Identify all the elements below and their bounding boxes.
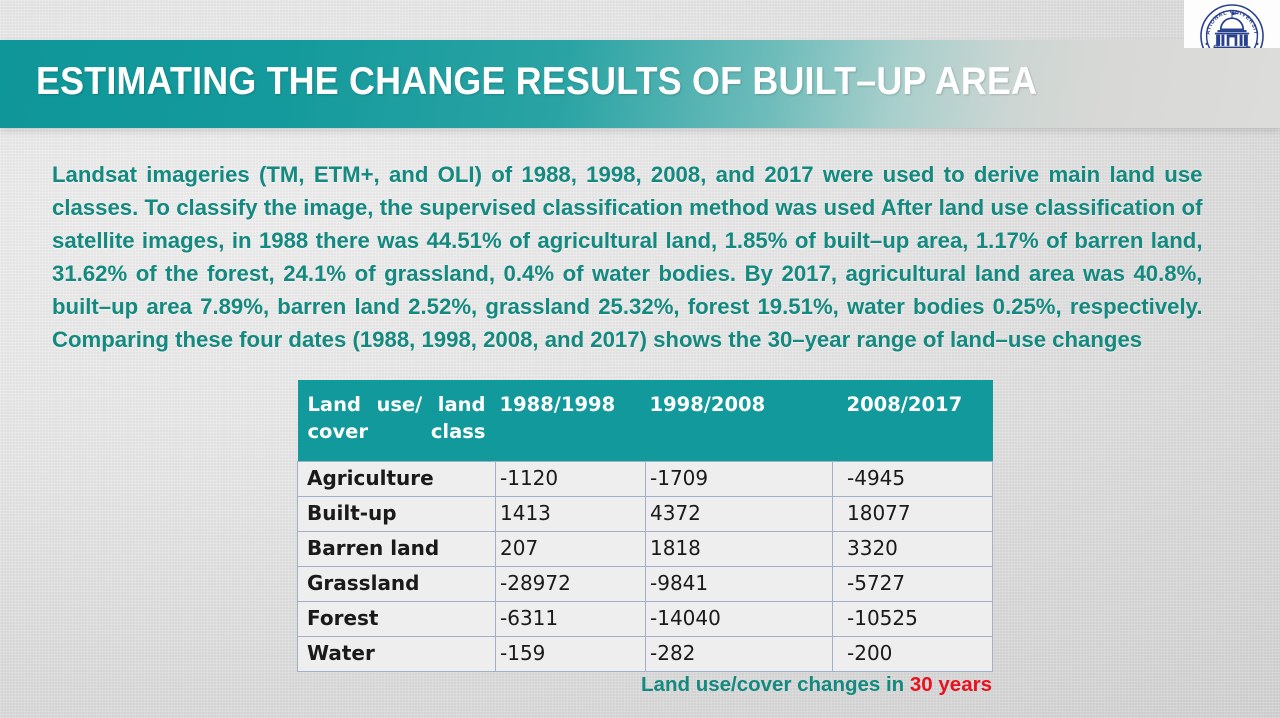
cell-1988-1998: -159 (496, 636, 646, 671)
column-header-2008-2017: 2008/2017 (833, 380, 993, 461)
table-row: Forest -6311 -14040 -10525 (298, 601, 993, 636)
table-row: Grassland -28972 -9841 -5727 (298, 566, 993, 601)
cell-2008-2017: -4945 (833, 461, 993, 496)
column-header-1988-1998: 1988/1998 (496, 380, 646, 461)
cell-2008-2017: 18077 (833, 496, 993, 531)
table-caption: Land use/cover changes in 30 years (0, 673, 992, 697)
caption-prefix: Land use/cover changes in (641, 673, 910, 696)
cell-1988-1998: -1120 (496, 461, 646, 496)
table-row: Water -159 -282 -200 (298, 636, 993, 671)
body-paragraph: Landsat imageries (TM, ETM+, and OLI) of… (52, 158, 1202, 356)
row-label: Built-up (298, 496, 496, 531)
table-header: Land use/ land cover class 1988/1998 199… (298, 380, 993, 461)
caption-highlight: 30 years (910, 673, 992, 696)
cell-1988-1998: -28972 (496, 566, 646, 601)
row-label: Forest (298, 601, 496, 636)
cell-1998-2008: 4372 (646, 496, 833, 531)
table-body: Agriculture -1120 -1709 -4945 Built-up 1… (298, 461, 993, 671)
cell-1988-1998: 207 (496, 531, 646, 566)
table-row: Barren land 207 1818 3320 (298, 531, 993, 566)
slide: ESTIMATING THE CHANGE RESULTS OF BUILT–U… (0, 0, 1280, 718)
row-label: Barren land (298, 531, 496, 566)
cell-1998-2008: -1709 (646, 461, 833, 496)
table-header-row: Land use/ land cover class 1988/1998 199… (298, 380, 993, 461)
cell-2008-2017: -5727 (833, 566, 993, 601)
cell-1998-2008: -9841 (646, 566, 833, 601)
column-header-1998-2008: 1998/2008 (646, 380, 833, 461)
cell-2008-2017: -10525 (833, 601, 993, 636)
cell-1998-2008: -14040 (646, 601, 833, 636)
land-use-change-table: Land use/ land cover class 1988/1998 199… (297, 380, 993, 672)
cell-2008-2017: -200 (833, 636, 993, 671)
university-seal-icon: NATIONAL UNIVERSITY OF MONGOLIA (1199, 3, 1265, 48)
title-banner: ESTIMATING THE CHANGE RESULTS OF BUILT–U… (0, 40, 1280, 128)
column-header-class: Land use/ land cover class (298, 380, 496, 461)
university-logo: NATIONAL UNIVERSITY OF MONGOLIA (1184, 0, 1280, 48)
page-title: ESTIMATING THE CHANGE RESULTS OF BUILT–U… (36, 57, 1037, 107)
cell-1988-1998: -6311 (496, 601, 646, 636)
table-row: Built-up 1413 4372 18077 (298, 496, 993, 531)
row-label: Agriculture (298, 461, 496, 496)
cell-1998-2008: 1818 (646, 531, 833, 566)
cell-1998-2008: -282 (646, 636, 833, 671)
table-row: Agriculture -1120 -1709 -4945 (298, 461, 993, 496)
row-label: Grassland (298, 566, 496, 601)
cell-2008-2017: 3320 (833, 531, 993, 566)
cell-1988-1998: 1413 (496, 496, 646, 531)
row-label: Water (298, 636, 496, 671)
